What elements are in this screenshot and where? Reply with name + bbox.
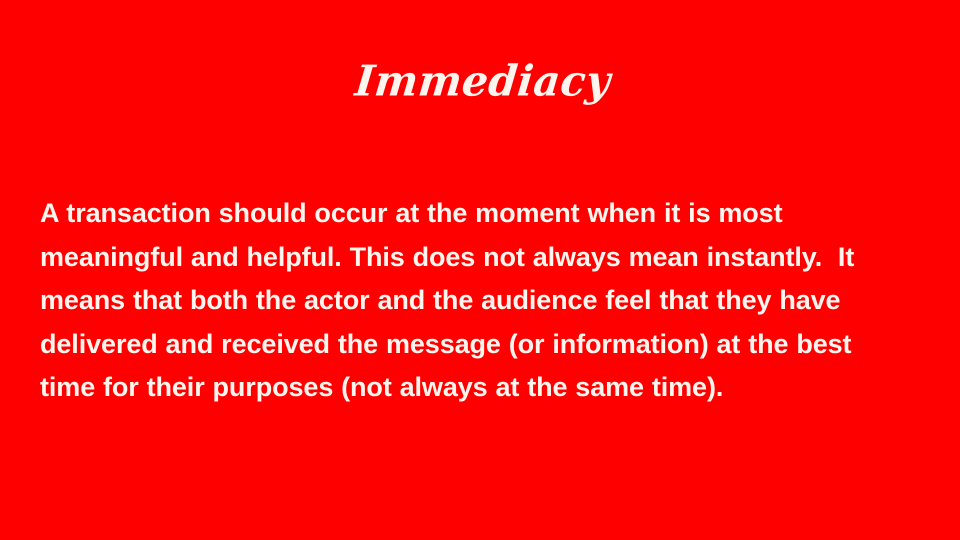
slide: Immediacy A transaction should occur at … [0, 0, 960, 540]
slide-body-container: A transaction should occur at the moment… [40, 192, 912, 410]
slide-body-text: A transaction should occur at the moment… [40, 192, 912, 410]
slide-title: Immediacy [353, 55, 614, 108]
slide-title-container: Immediacy [0, 58, 960, 108]
